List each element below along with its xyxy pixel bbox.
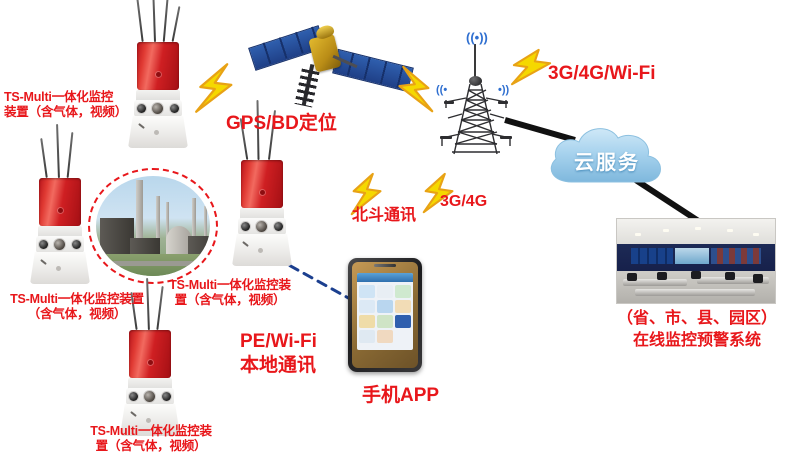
device-body — [39, 178, 81, 226]
bolt-gps-uplink — [190, 62, 252, 114]
device-sensor-ring — [126, 388, 174, 405]
bolt-satellite-downlink — [382, 64, 440, 114]
satellite-boom-fins — [294, 69, 319, 108]
control-room-label: （省、市、县、园区） 在线监控预警系统 — [606, 308, 788, 351]
operator-chair — [753, 274, 763, 283]
plant-road — [96, 261, 210, 266]
app-icon[interactable] — [395, 285, 411, 298]
operator-chair — [725, 272, 735, 280]
device-body — [241, 160, 283, 208]
app-icon[interactable] — [395, 300, 411, 313]
device-antennas — [37, 118, 83, 178]
device-body — [129, 330, 171, 378]
control-room-photo — [617, 219, 775, 303]
sensor-lens — [129, 392, 138, 401]
cell-tower: ((•)) ((• •)) — [432, 26, 518, 158]
device-label-top-left: TS-Multi一体化监控 装置（含气体，视频） — [4, 90, 134, 121]
sensor-lens — [170, 104, 179, 113]
control-room — [616, 218, 776, 304]
tower-mast — [474, 44, 476, 78]
tablet-status-bar — [357, 273, 413, 282]
cloud-label: 云服务 — [542, 146, 672, 175]
tablet-speaker — [374, 264, 396, 267]
device-sensor-ring — [36, 236, 84, 253]
app-icon[interactable] — [359, 300, 375, 313]
tower-wifi-icon-top: ((•)) — [466, 30, 488, 45]
mobile-app-label: 手机APP — [362, 384, 439, 407]
sensor-lens — [162, 392, 171, 401]
antenna — [67, 132, 74, 178]
link-label-3g4g: 3G/4G — [440, 192, 487, 212]
app-icon[interactable] — [359, 285, 375, 298]
sensor-lens — [256, 221, 267, 232]
operator-chair — [627, 273, 637, 281]
antenna — [40, 138, 48, 178]
sensor-lens — [39, 240, 48, 249]
device-label-center: TS-Multi一体化监控装 置（含气体，视频） — [160, 278, 300, 309]
cloud: 云服务 — [542, 118, 672, 192]
device-cone — [128, 116, 188, 148]
app-icon[interactable] — [377, 315, 393, 328]
sensor-lens — [241, 222, 250, 231]
operator-chair — [691, 271, 701, 279]
sensor-lens — [54, 239, 65, 250]
tablet-app-grid[interactable] — [357, 282, 413, 346]
video-wall-panel — [711, 248, 761, 264]
sensor-lens — [137, 104, 146, 113]
antenna — [163, 0, 170, 42]
device-sensor-ring — [238, 218, 286, 235]
link-label-beidou: 北斗通讯 — [352, 206, 416, 226]
ceiling-light — [695, 227, 701, 230]
video-wall-panel — [675, 248, 709, 264]
industrial-plant — [88, 168, 218, 284]
diagram-canvas: ((•)) ((• •)) — [0, 0, 797, 464]
app-icon[interactable] — [395, 315, 411, 328]
app-icon[interactable] — [359, 330, 375, 343]
device-body — [137, 42, 179, 90]
antenna — [56, 124, 60, 178]
plant-photo — [96, 176, 210, 276]
sensor-lens — [144, 391, 155, 402]
antenna — [136, 0, 143, 42]
device-label-bottom-left: TS-Multi一体化监控装 置（含气体，视频） — [78, 424, 224, 455]
sensor-lens — [152, 103, 163, 114]
ceiling-light — [635, 233, 641, 236]
device-mid-left — [20, 178, 100, 308]
link-label-gps: GPS/BD定位 — [226, 112, 337, 135]
sensor-lens — [72, 240, 81, 249]
antenna — [152, 0, 156, 42]
video-wall-panel — [631, 248, 673, 264]
console-desk — [635, 289, 755, 296]
device-antennas — [135, 0, 181, 42]
app-icon[interactable] — [377, 300, 393, 313]
operator-chair — [657, 272, 667, 280]
device-cone — [232, 234, 292, 266]
ceiling-light — [663, 229, 669, 232]
app-icon[interactable] — [395, 330, 411, 343]
ceiling-light — [727, 229, 733, 232]
device-cone — [30, 252, 90, 284]
link-label-local: PE/Wi-Fi 本地通讯 — [240, 330, 317, 378]
link-label-3g4g-wifi: 3G/4G/Wi-Fi — [548, 62, 656, 85]
device-label-mid-left: TS-Multi一体化监控装置 （含气体，视频） — [2, 292, 152, 323]
device-center — [222, 160, 302, 296]
app-icon[interactable] — [377, 285, 393, 298]
app-icon[interactable] — [359, 315, 375, 328]
tablet-screen[interactable] — [357, 273, 413, 350]
antenna — [172, 6, 181, 42]
mobile-app-device[interactable] — [348, 258, 422, 372]
tower-lattice — [432, 84, 518, 158]
app-icon[interactable] — [377, 330, 393, 343]
device-sensor-ring — [134, 100, 182, 117]
ceiling-light — [753, 233, 759, 236]
sensor-lens — [274, 222, 283, 231]
